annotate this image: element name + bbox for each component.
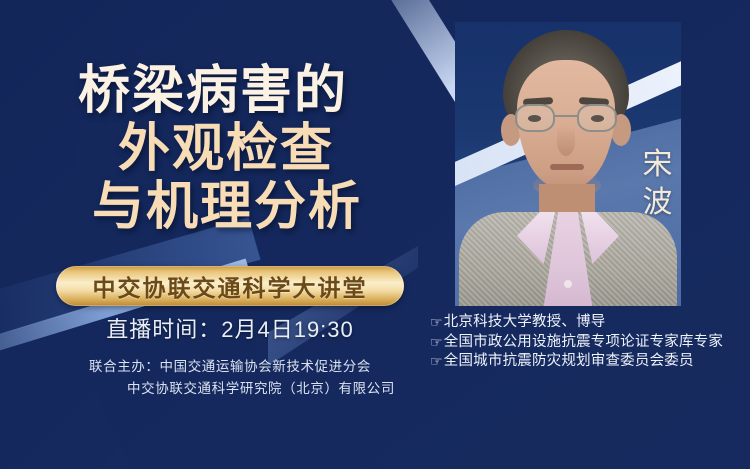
portrait-glasses-lens-left (515, 104, 555, 132)
credential-item: ☞ 北京科技大学教授、博导 (430, 313, 750, 333)
pointing-hand-icon: ☞ (430, 352, 443, 372)
webinar-poster: 宋 波 桥梁病害的 外观检查 与机理分析 中交协联交通科学大讲堂 直播时间：2月… (0, 0, 750, 469)
title-line-3: 与机理分析 (0, 178, 430, 236)
speaker-name: 宋 波 (628, 146, 688, 222)
credential-item: ☞ 全国市政公用设施抗震专项论证专家库专家 (430, 333, 750, 353)
title-line-2: 外观检查 (0, 120, 430, 178)
series-badge: 中交协联交通科学大讲堂 (56, 266, 404, 306)
portrait-nose (557, 126, 575, 156)
credential-text: 全国市政公用设施抗震专项论证专家库专家 (444, 333, 723, 353)
poster-title: 桥梁病害的 外观检查 与机理分析 (0, 62, 430, 236)
portrait-shirt-button (564, 280, 572, 288)
pointing-hand-icon: ☞ (430, 333, 443, 353)
organizer-line-2: 中交协联交通科学研究院（北京）有限公司 (0, 378, 460, 400)
credential-item: ☞ 全国城市抗震防灾规划审查委员会委员 (430, 352, 750, 372)
speaker-name-char-2: 波 (628, 184, 688, 222)
portrait-glasses-bridge (555, 115, 577, 117)
title-line-1: 桥梁病害的 (0, 62, 430, 120)
portrait-mouth (550, 164, 584, 170)
organizer-line-1: 联合主办：中国交通运输协会新技术促进分会 (0, 356, 460, 378)
organizers: 联合主办：中国交通运输协会新技术促进分会 中交协联交通科学研究院（北京）有限公司 (0, 356, 460, 400)
credential-text: 北京科技大学教授、博导 (444, 313, 606, 333)
series-badge-label: 中交协联交通科学大讲堂 (93, 269, 368, 303)
pointing-hand-icon: ☞ (430, 313, 443, 333)
portrait-glasses-lens-right (577, 104, 617, 132)
credential-text: 全国城市抗震防灾规划审查委员会委员 (444, 352, 694, 372)
live-time: 直播时间：2月4日19:30 (0, 312, 460, 344)
speaker-credentials: ☞ 北京科技大学教授、博导 ☞ 全国市政公用设施抗震专项论证专家库专家 ☞ 全国… (430, 313, 750, 372)
speaker-name-char-1: 宋 (628, 146, 688, 184)
